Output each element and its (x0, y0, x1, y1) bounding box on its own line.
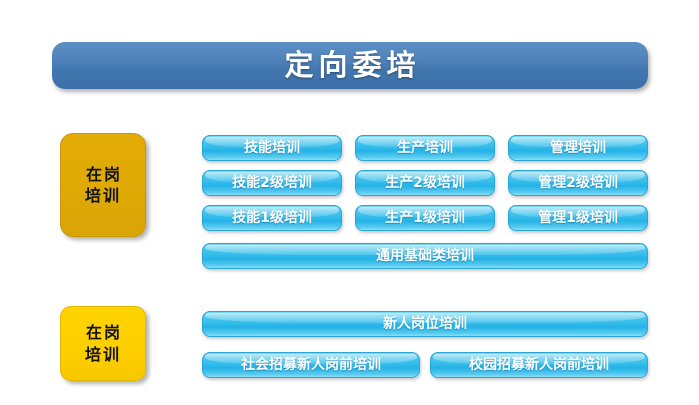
category-box-on-job-training-label: 在岗 培训 (84, 164, 122, 206)
training-item-production-level2[interactable]: 生产2级培训 (355, 170, 495, 196)
training-item-social-recruit-pre-job[interactable]: 社会招募新人岗前培训 (202, 352, 420, 378)
training-item-label: 生产培训 (397, 141, 453, 155)
training-item-management-general[interactable]: 管理培训 (508, 135, 648, 161)
category-box-new-hire-training[interactable]: 在岗 培训 (60, 306, 146, 381)
training-item-label: 校园招募新人岗前培训 (469, 358, 609, 372)
training-item-management-level1[interactable]: 管理1级培训 (508, 205, 648, 231)
category-box-new-hire-training-label: 在岗 培训 (84, 322, 122, 364)
category-box-on-job-training[interactable]: 在岗 培训 (60, 133, 146, 237)
diagram-canvas: 定向委培 在岗 培训 技能培训 技能2级培训 技能1级培训 生产培训 生产2级培… (0, 0, 699, 405)
training-item-management-level2[interactable]: 管理2级培训 (508, 170, 648, 196)
training-item-label: 生产1级培训 (385, 211, 465, 225)
training-item-production-level1[interactable]: 生产1级培训 (355, 205, 495, 231)
training-item-skill-general[interactable]: 技能培训 (202, 135, 342, 161)
training-item-label: 技能培训 (244, 141, 300, 155)
training-item-label: 管理1级培训 (538, 211, 618, 225)
diagram-title-banner: 定向委培 (52, 42, 648, 89)
training-item-label: 管理2级培训 (538, 176, 618, 190)
training-item-skill-level1[interactable]: 技能1级培训 (202, 205, 342, 231)
training-item-label: 技能2级培训 (232, 176, 312, 190)
training-item-label: 通用基础类培训 (376, 249, 474, 263)
training-item-production-general[interactable]: 生产培训 (355, 135, 495, 161)
training-item-label: 社会招募新人岗前培训 (241, 358, 381, 372)
training-item-label: 生产2级培训 (385, 176, 465, 190)
training-item-label: 新人岗位培训 (383, 317, 467, 331)
training-item-general-foundation[interactable]: 通用基础类培训 (202, 243, 648, 269)
training-item-new-hire-position[interactable]: 新人岗位培训 (202, 311, 648, 337)
training-item-skill-level2[interactable]: 技能2级培训 (202, 170, 342, 196)
training-item-label: 技能1级培训 (232, 211, 312, 225)
training-item-campus-recruit-pre-job[interactable]: 校园招募新人岗前培训 (430, 352, 648, 378)
training-item-label: 管理培训 (550, 141, 606, 155)
diagram-title-text: 定向委培 (279, 51, 420, 80)
